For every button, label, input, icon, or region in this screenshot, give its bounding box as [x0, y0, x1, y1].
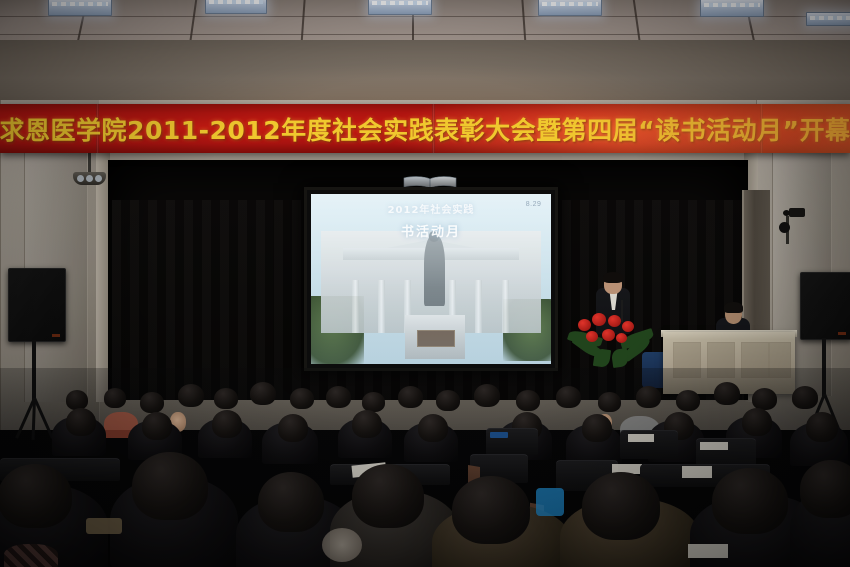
ceiling-lamp-icon	[806, 12, 850, 26]
wall-camera-icon	[789, 208, 805, 217]
audience-head	[132, 452, 208, 520]
audience-head	[800, 460, 850, 518]
spotlight-icon	[73, 172, 106, 185]
slide-overlay-mid-text: 书活动月	[311, 221, 551, 240]
audience-head	[582, 472, 660, 540]
auditorium-photo: 白求恩医学院2011-2012年度社会实践表彰大会暨第四届“读书活动月”开幕式	[0, 0, 850, 567]
ceiling-lamp-icon	[538, 0, 602, 16]
audience-head	[352, 464, 424, 528]
audience-scarf	[86, 518, 122, 534]
ceiling-lamp-icon	[368, 0, 432, 15]
slide-statue	[424, 235, 446, 306]
audience-furtrim	[322, 528, 362, 562]
audience-head	[0, 464, 72, 528]
paper-on-desk	[682, 466, 712, 478]
ceiling-lamp-icon	[48, 0, 112, 16]
seat-number-label	[700, 442, 728, 450]
audience-head	[712, 468, 788, 534]
slide-overlay-top-text: 2012年社会实践	[311, 201, 551, 216]
banner-title: 白求恩医学院2011-2012年度社会实践表彰大会暨第四届“读书活动月”开幕式	[0, 104, 850, 153]
audience-collar	[4, 544, 58, 567]
audience-bag	[536, 488, 564, 516]
spotlight-mount	[88, 152, 91, 174]
event-banner: 白求恩医学院2011-2012年度社会实践表彰大会暨第四届“读书活动月”开幕式	[0, 104, 850, 153]
projected-slide: 2012年社会实践 书活动月 8.29	[311, 194, 551, 364]
audience-area	[0, 368, 850, 567]
desk-person-hair	[724, 302, 743, 313]
flower-arrangement	[568, 305, 654, 367]
ceiling-lamp-icon	[205, 0, 267, 14]
ceiling-lamp-icon	[700, 0, 764, 17]
slide-plaque	[417, 330, 455, 347]
paper-on-seat	[688, 544, 728, 558]
audience-head	[258, 472, 324, 532]
audience-head	[452, 476, 530, 544]
speaker-person-hair	[603, 272, 623, 283]
seat-tag	[490, 432, 508, 438]
slide-corner-text: 8.29	[526, 201, 542, 208]
side-door[interactable]	[742, 190, 770, 340]
camera-joint	[779, 222, 790, 233]
projection-screen: 2012年社会实践 书活动月 8.29	[304, 187, 558, 371]
seat-number-label	[628, 434, 654, 442]
